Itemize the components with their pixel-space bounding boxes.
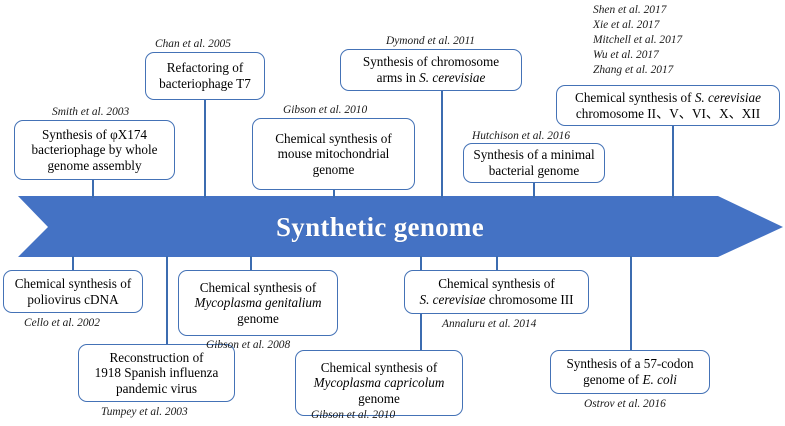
event-box-gibson-genitalium[interactable]: Chemical synthesis of Mycoplasma genital… <box>178 270 338 336</box>
event-box-cello[interactable]: Chemical synthesis of poliovirus cDNA <box>3 270 143 313</box>
citation-chan: Chan et al. 2005 <box>155 38 231 50</box>
citation-gibson-capricolum: Gibson et al. 2010 <box>311 409 395 421</box>
event-hutchison-line2: bacterial genome <box>489 163 579 178</box>
event-smith-line3: genome assembly <box>47 158 141 173</box>
event-cello-line2: poliovirus cDNA <box>27 292 118 307</box>
citation-mitchell: Mitchell et al. 2017 <box>593 33 682 48</box>
connector-smith <box>92 180 94 198</box>
event-box-dymond[interactable]: Synthesis of chromosome arms in S. cerev… <box>340 49 522 91</box>
event-tumpey-line1: Reconstruction of <box>109 350 203 365</box>
citation-wu: Wu et al. 2017 <box>593 48 682 63</box>
connector-dymond <box>441 91 443 198</box>
event-gibson-genitalium-line3: genome <box>237 311 279 326</box>
connector-chan <box>204 100 206 198</box>
event-annaluru-line1: Chemical synthesis of <box>438 276 554 291</box>
citation-shen: Shen et al. 2017 <box>593 3 682 18</box>
citation-cello: Cello et al. 2002 <box>24 317 100 329</box>
event-annaluru-line2b: chromosome III <box>486 292 574 307</box>
event-gibson-mouse-line3: genome <box>313 162 355 177</box>
connector-gibson-genitalium <box>250 256 252 270</box>
citation-xie: Xie et al. 2017 <box>593 18 682 33</box>
event-box-tumpey[interactable]: Reconstruction of 1918 Spanish influenza… <box>78 344 235 402</box>
event-tumpey-line3: pandemic virus <box>116 381 197 396</box>
event-gibson-capricolum-line1: Chemical synthesis of <box>321 360 437 375</box>
event-gibson-mouse-line1: Chemical synthesis of <box>275 131 391 146</box>
arrow-shape-icon <box>0 196 785 258</box>
event-sc2017-line2: chromosome II、V、VI、X、XII <box>576 106 760 121</box>
citation-hutchison: Hutchison et al. 2016 <box>472 130 570 142</box>
event-box-gibson-mouse[interactable]: Chemical synthesis of mouse mitochondria… <box>252 118 415 190</box>
event-box-sc2017[interactable]: Chemical synthesis of S. cerevisiae chro… <box>556 85 780 126</box>
event-dymond-line2a: arms in <box>377 70 420 85</box>
connector-gibson-mouse <box>333 190 335 198</box>
event-chan-line2: bacteriophage T7 <box>159 76 251 91</box>
event-sc2017-line1a: Chemical synthesis of <box>575 90 695 105</box>
connector-tumpey <box>166 256 168 344</box>
citation-group-sc2017: Shen et al. 2017 Xie et al. 2017 Mitchel… <box>593 3 682 78</box>
event-dymond-line1: Synthesis of chromosome <box>363 54 499 69</box>
event-sc2017-line1b: S. cerevisiae <box>695 90 761 105</box>
event-tumpey-line2: 1918 Spanish influenza <box>95 365 219 380</box>
event-hutchison-line1: Synthesis of a minimal <box>473 147 594 162</box>
citation-zhang: Zhang et al. 2017 <box>593 63 682 78</box>
event-gibson-mouse-line2: mouse mitochondrial <box>278 146 390 161</box>
event-ostrov-line2a: genome of <box>583 372 642 387</box>
citation-tumpey: Tumpey et al. 2003 <box>101 406 188 418</box>
event-gibson-genitalium-line1: Chemical synthesis of <box>200 280 316 295</box>
connector-annaluru <box>496 256 498 270</box>
event-gibson-capricolum-line3: genome <box>358 391 400 406</box>
citation-gibson-mouse: Gibson et al. 2010 <box>283 104 367 116</box>
timeline-diagram: Synthetic genome Smith et al. 2003 Chan … <box>0 0 785 426</box>
event-box-chan[interactable]: Refactoring of bacteriophage T7 <box>145 52 265 100</box>
event-box-smith[interactable]: Synthesis of φX174 bacteriophage by whol… <box>14 120 175 180</box>
event-gibson-genitalium-line2: Mycoplasma genitalium <box>194 295 321 310</box>
event-cello-line1: Chemical synthesis of <box>15 276 131 291</box>
event-ostrov-line1: Synthesis of a 57-codon <box>566 356 693 371</box>
connector-ostrov <box>630 256 632 350</box>
event-gibson-capricolum-line2: Mycoplasma capricolum <box>314 375 445 390</box>
event-box-gibson-capricolum[interactable]: Chemical synthesis of Mycoplasma caprico… <box>295 350 463 416</box>
citation-dymond: Dymond et al. 2011 <box>386 35 475 47</box>
connector-cello <box>72 256 74 270</box>
connector-hutchison <box>533 183 535 198</box>
event-box-annaluru[interactable]: Chemical synthesis of S. cerevisiae chro… <box>404 270 589 314</box>
event-ostrov-line2b: E. coli <box>642 372 676 387</box>
citation-annaluru: Annaluru et al. 2014 <box>442 318 536 330</box>
event-smith-line1: Synthesis of φX174 <box>42 127 147 142</box>
event-box-hutchison[interactable]: Synthesis of a minimal bacterial genome <box>463 143 605 183</box>
citation-ostrov: Ostrov et al. 2016 <box>584 398 666 410</box>
event-annaluru-line2a: S. cerevisiae <box>419 292 485 307</box>
event-box-ostrov[interactable]: Synthesis of a 57-codon genome of E. col… <box>550 350 710 394</box>
event-dymond-line2b: S. cerevisiae <box>419 70 485 85</box>
synthetic-genome-arrow-banner: Synthetic genome <box>0 196 785 258</box>
citation-gibson-genitalium: Gibson et al. 2008 <box>206 339 290 351</box>
connector-sc2017 <box>672 126 674 198</box>
event-smith-line2: bacteriophage by whole <box>32 142 158 157</box>
event-chan-line1: Refactoring of <box>167 60 244 75</box>
citation-smith: Smith et al. 2003 <box>52 106 129 118</box>
